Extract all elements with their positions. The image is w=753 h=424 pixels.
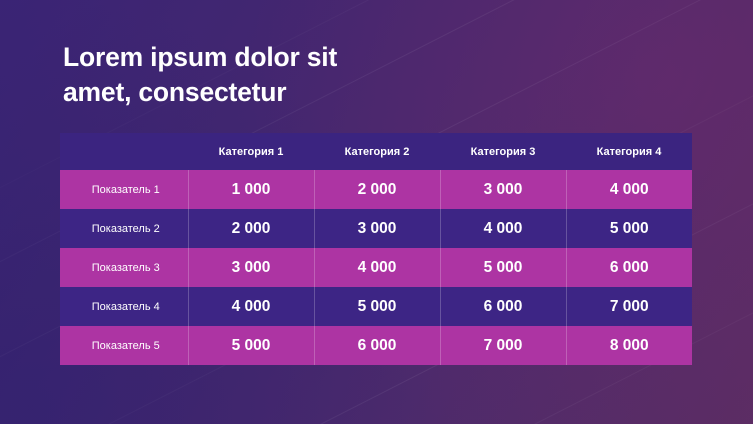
slide-canvas: Lorem ipsum dolor sit amet, consectetur … bbox=[0, 0, 753, 424]
page-title: Lorem ipsum dolor sit amet, consectetur bbox=[63, 40, 483, 110]
row-label: Показатель 5 bbox=[60, 326, 188, 365]
row-label: Показатель 1 bbox=[60, 170, 188, 209]
column-header-3: Категория 3 bbox=[440, 133, 566, 170]
row-value: 7 000 bbox=[440, 326, 566, 365]
row-value: 5 000 bbox=[440, 248, 566, 287]
row-value: 6 000 bbox=[440, 287, 566, 326]
table-row: Показатель 4 4 000 5 000 6 000 7 000 bbox=[60, 287, 692, 326]
column-header-1: Категория 1 bbox=[188, 133, 314, 170]
row-value: 4 000 bbox=[566, 170, 692, 209]
table-row: Показатель 5 5 000 6 000 7 000 8 000 bbox=[60, 326, 692, 365]
row-value: 6 000 bbox=[566, 248, 692, 287]
row-value: 4 000 bbox=[188, 287, 314, 326]
row-value: 1 000 bbox=[188, 170, 314, 209]
table-row: Показатель 1 1 000 2 000 3 000 4 000 bbox=[60, 170, 692, 209]
row-value: 3 000 bbox=[188, 248, 314, 287]
table-row: Показатель 3 3 000 4 000 5 000 6 000 bbox=[60, 248, 692, 287]
row-value: 3 000 bbox=[314, 209, 440, 248]
row-label: Показатель 4 bbox=[60, 287, 188, 326]
row-label: Показатель 3 bbox=[60, 248, 188, 287]
row-value: 7 000 bbox=[566, 287, 692, 326]
row-value: 4 000 bbox=[440, 209, 566, 248]
table-corner-cell bbox=[60, 133, 188, 170]
row-value: 6 000 bbox=[314, 326, 440, 365]
column-header-2: Категория 2 bbox=[314, 133, 440, 170]
table-header-row: Категория 1 Категория 2 Категория 3 Кате… bbox=[60, 133, 692, 170]
row-value: 2 000 bbox=[314, 170, 440, 209]
row-value: 5 000 bbox=[314, 287, 440, 326]
row-value: 5 000 bbox=[566, 209, 692, 248]
table-row: Показатель 2 2 000 3 000 4 000 5 000 bbox=[60, 209, 692, 248]
row-value: 2 000 bbox=[188, 209, 314, 248]
row-value: 8 000 bbox=[566, 326, 692, 365]
column-header-4: Категория 4 bbox=[566, 133, 692, 170]
row-value: 3 000 bbox=[440, 170, 566, 209]
row-label: Показатель 2 bbox=[60, 209, 188, 248]
row-value: 5 000 bbox=[188, 326, 314, 365]
data-table: Категория 1 Категория 2 Категория 3 Кате… bbox=[60, 133, 692, 365]
row-value: 4 000 bbox=[314, 248, 440, 287]
